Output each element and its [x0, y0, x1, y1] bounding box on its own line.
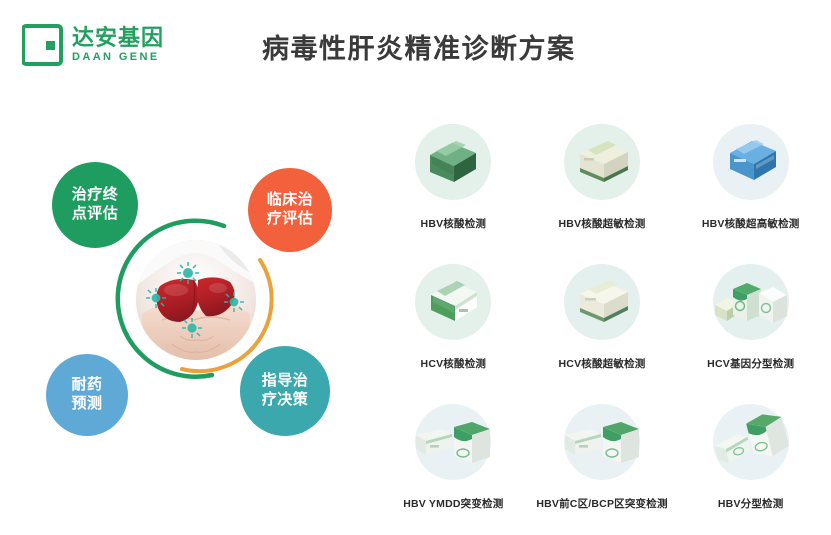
diagram-node-clinical-evaluation[interactable]: 临床治 疗评估 [248, 168, 332, 252]
product-label: HCV基因分型检测 [707, 356, 794, 371]
product-label: HBV核酸检测 [421, 216, 487, 231]
clinical-value-diagram: 治疗终 点评估 临床治 疗评估 耐药 预测 指导治 疗决策 [24, 140, 364, 470]
product-grid: HBV核酸检测 HBV核酸超敏检测 [382, 120, 822, 535]
two-reagent-kit-boxes-icon [414, 417, 492, 467]
product-label: HBV核酸超敏检测 [559, 216, 646, 231]
node-label-line1: 治疗终 [72, 186, 119, 205]
product-card[interactable]: HBV前C区/BCP区突变检测 [531, 400, 674, 535]
node-label-line2: 点评估 [72, 205, 119, 224]
product-card[interactable]: HBV核酸超高敏检测 [679, 120, 822, 260]
daan-gene-logo-mark-icon [22, 24, 64, 66]
product-image-disc [415, 264, 491, 340]
product-label: HCV核酸检测 [421, 356, 487, 371]
product-label: HBV前C区/BCP区突变检测 [536, 496, 667, 511]
product-image-disc [415, 404, 491, 480]
node-label-line2: 疗决策 [262, 391, 309, 410]
green-reagent-kit-box-icon [422, 135, 484, 189]
product-image-disc [415, 124, 491, 200]
cream-green-reagent-kit-box-icon [570, 136, 634, 188]
poster-page: 达安基因 DAAN GENE 病毒性肝炎精准诊断方案 [0, 0, 831, 535]
product-card[interactable]: HBV核酸超敏检测 [531, 120, 674, 260]
product-image-disc [713, 264, 789, 340]
node-label-line1: 指导治 [262, 372, 309, 391]
diagram-node-drug-resistance-prediction[interactable]: 耐药 预测 [46, 354, 128, 436]
product-label: HBV核酸超高敏检测 [702, 216, 800, 231]
hands-holding-liver-image [136, 240, 256, 360]
product-image-disc [564, 124, 640, 200]
diagram-node-treatment-endpoint[interactable]: 治疗终 点评估 [52, 162, 138, 248]
node-label-line2: 疗评估 [267, 210, 314, 229]
product-card[interactable]: HCV核酸超敏检测 [531, 260, 674, 400]
green-white-reagent-kit-box-icon [421, 275, 485, 329]
brand-logo: 达安基因 DAAN GENE [22, 24, 164, 66]
product-card[interactable]: HBV YMDD突变检测 [382, 400, 525, 535]
product-card[interactable]: HBV核酸检测 [382, 120, 525, 260]
node-label-line1: 耐药 [71, 376, 102, 395]
product-card[interactable]: HBV分型检测 [679, 400, 822, 535]
product-image-disc [713, 404, 789, 480]
product-card[interactable]: HCV核酸检测 [382, 260, 525, 400]
node-label-line2: 预测 [71, 395, 102, 414]
blue-reagent-kit-box-icon [720, 135, 782, 189]
product-card[interactable]: HCV基因分型检测 [679, 260, 822, 400]
product-label: HBV分型检测 [718, 496, 784, 511]
brand-name-en: DAAN GENE [72, 52, 164, 63]
product-label: HBV YMDD突变检测 [403, 496, 503, 511]
header: 达安基因 DAAN GENE 病毒性肝炎精准诊断方案 [0, 0, 831, 100]
product-image-disc [564, 264, 640, 340]
node-label-line1: 临床治 [267, 191, 314, 210]
diagram-node-treatment-decision-guidance[interactable]: 指导治 疗决策 [240, 346, 330, 436]
product-label: HCV核酸超敏检测 [559, 356, 646, 371]
cream-reagent-kit-box-icon [570, 276, 634, 328]
brand-logo-text: 达安基因 DAAN GENE [72, 27, 164, 63]
brand-name-cn: 达安基因 [72, 27, 164, 49]
tilted-reagent-kit-boxes-icon [713, 415, 789, 469]
product-image-disc [564, 404, 640, 480]
page-title: 病毒性肝炎精准诊断方案 [262, 27, 576, 66]
multiple-reagent-kit-boxes-icon [713, 275, 789, 329]
product-image-disc [713, 124, 789, 200]
two-reagent-kit-boxes-icon [563, 417, 641, 467]
